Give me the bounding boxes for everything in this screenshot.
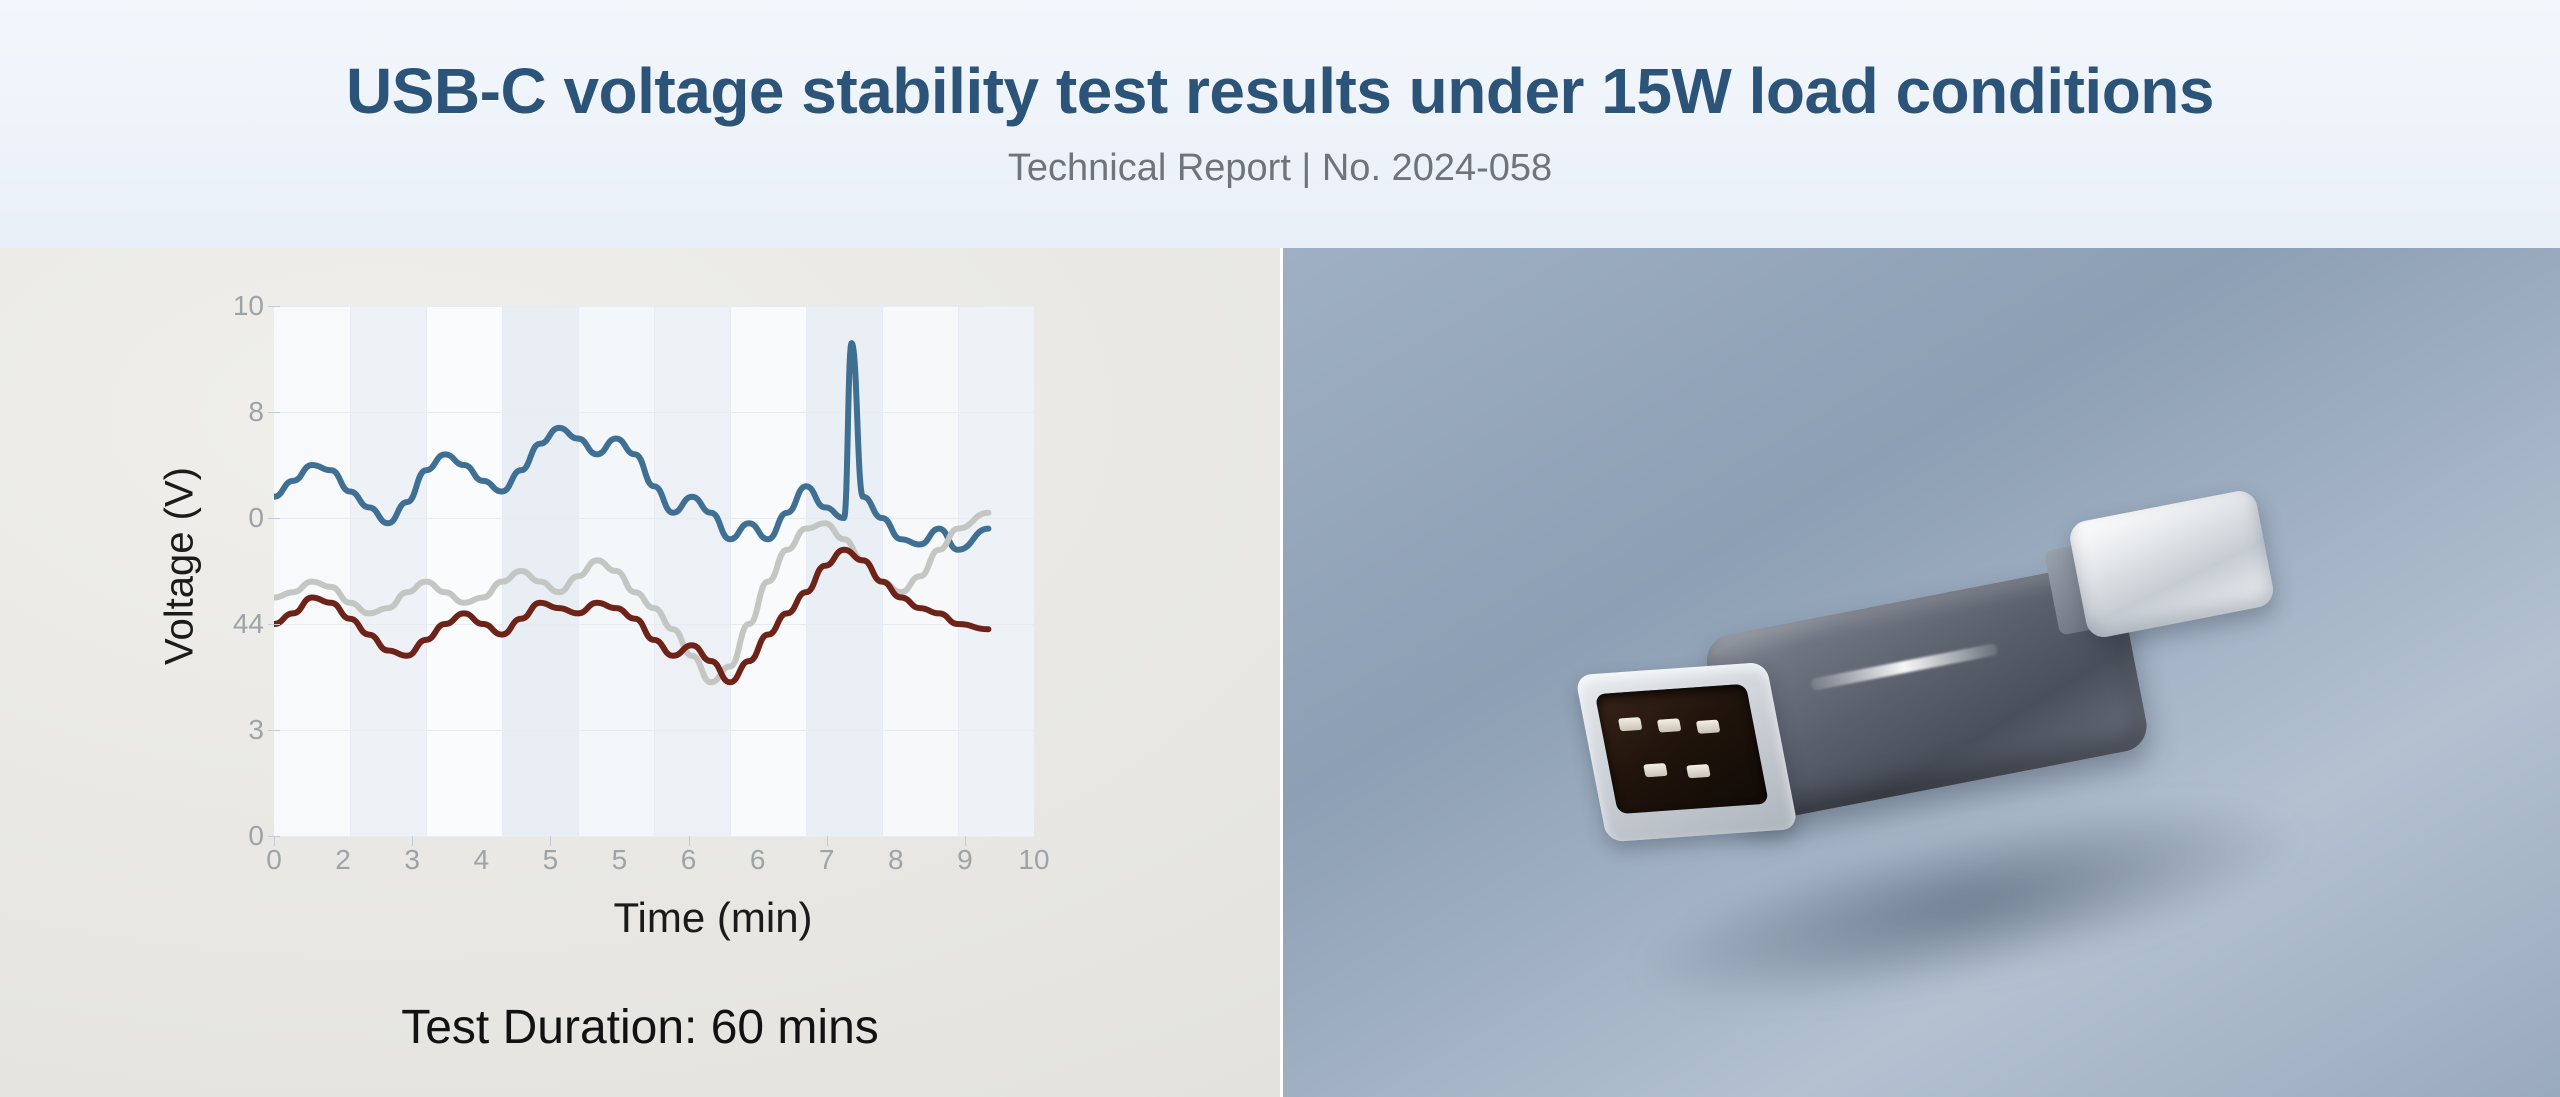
y-axis-tick-mark: [268, 730, 280, 731]
x-axis-tick-mark: [689, 836, 690, 846]
page-title: USB-C voltage stability test results und…: [346, 58, 2214, 125]
chart-line-channel-a: [274, 343, 988, 550]
x-axis-tick-label: 0: [244, 844, 304, 876]
y-axis-label: Voltage (V): [158, 467, 203, 665]
x-axis-tick-label: 7: [797, 844, 857, 876]
x-axis-tick-label: 5: [520, 844, 580, 876]
port-pin: [1696, 720, 1721, 734]
x-axis-tick-mark: [827, 836, 828, 846]
y-axis-tick-mark: [268, 518, 280, 519]
y-axis-tick-mark: [268, 306, 280, 307]
y-axis-tick-label: 8: [190, 396, 264, 428]
port-pin: [1657, 718, 1682, 732]
x-axis-tick-mark: [274, 836, 275, 846]
x-axis-tick-label: 10: [1004, 844, 1064, 876]
x-axis-tick-label: 2: [313, 844, 373, 876]
chart-line-channel-b: [274, 513, 988, 683]
chart-panel: 03440810 0234556678910 Voltage (V) Time …: [0, 248, 1280, 1097]
y-axis-tick-mark: [268, 412, 280, 413]
gridline-horizontal: [274, 836, 1034, 837]
x-axis-tick-label: 4: [451, 844, 511, 876]
usb-c-port-cavity: [1595, 684, 1769, 814]
port-pin: [1618, 717, 1643, 731]
chart-line-channel-c: [274, 550, 988, 683]
x-axis-tick-label: 5: [589, 844, 649, 876]
port-pin: [1643, 763, 1668, 777]
x-axis-tick-mark: [965, 836, 966, 846]
x-axis-tick-mark: [412, 836, 413, 846]
chart-caption: Test Duration: 60 mins: [401, 1000, 879, 1055]
product-photo-panel: 15W Load: [1280, 248, 2560, 1097]
x-axis-label: Time (min): [613, 894, 812, 942]
voltage-line-chart: 03440810 0234556678910 Voltage (V) Time …: [216, 296, 1186, 896]
header-banner: USB-C voltage stability test results und…: [0, 0, 2560, 248]
x-axis-tick-label: 3: [382, 844, 442, 876]
x-axis-tick-label: 8: [866, 844, 926, 876]
y-axis-tick-label: 10: [190, 290, 264, 322]
x-axis-tick-label: 6: [659, 844, 719, 876]
page-subtitle: Technical Report | No. 2024-058: [1008, 147, 1552, 190]
panel-divider: [1280, 248, 1283, 1097]
y-axis-tick-label: 3: [190, 714, 264, 746]
x-axis-tick-label: 6: [728, 844, 788, 876]
x-axis-tick-mark: [550, 836, 551, 846]
y-axis-tick-mark: [268, 624, 280, 625]
x-axis-tick-label: 9: [935, 844, 995, 876]
chart-series-layer: [274, 306, 1034, 836]
port-pin: [1686, 764, 1711, 778]
usb-c-male-plug: [2067, 488, 2276, 640]
